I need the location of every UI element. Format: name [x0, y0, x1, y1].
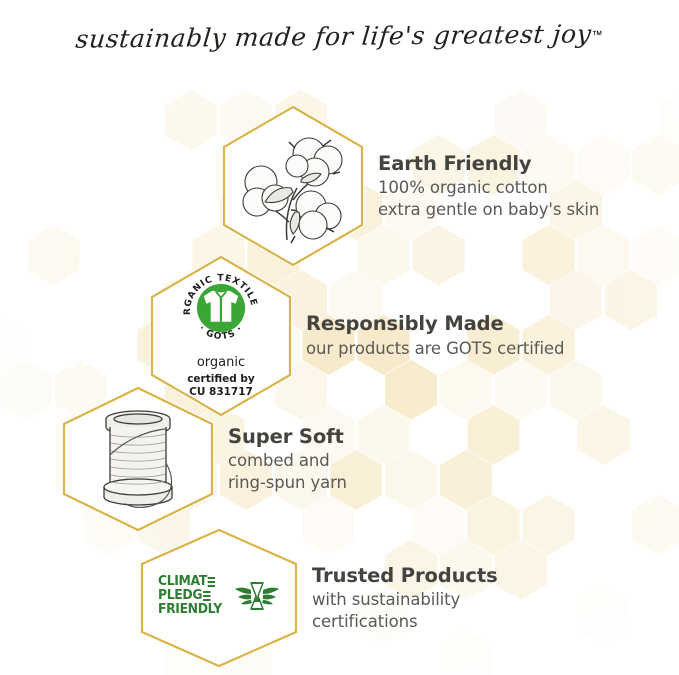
- feature-super-soft: Super Soft combed and ring-spun yarn: [62, 386, 347, 532]
- gots-organic-label: organic: [197, 355, 245, 370]
- hex-card-spool: [62, 386, 214, 532]
- gots-certified-by-label: certified by: [187, 373, 255, 386]
- trademark-symbol: ™: [592, 30, 603, 42]
- feature-title: Trusted Products: [312, 564, 498, 588]
- cpf-line-3: FRIENDLY: [158, 603, 222, 617]
- feature-text-trusted-products: Trusted Products with sustainability cer…: [312, 564, 498, 633]
- gots-badge: GLOBAL ORGANIC TEXTILE STANDARD · GOTS ·…: [178, 265, 264, 398]
- cpf-line-3-text: FRIENDLY: [158, 603, 222, 617]
- headline-text: sustainably made for life's greatest joy: [75, 19, 594, 53]
- thread-spool-icon: [86, 403, 190, 515]
- cotton-plant-icon: [235, 124, 351, 248]
- feature-description: with sustainability certifications: [312, 589, 498, 633]
- climate-pledge-wordmark: CLIMAT PLEDG FRIENDLY: [158, 575, 227, 616]
- hex-card-climate-pledge: CLIMAT PLEDG FRIENDLY: [140, 528, 298, 668]
- feature-description: 100% organic cotton extra gentle on baby…: [378, 177, 599, 221]
- sustainability-infographic: sustainably made for life's greatest joy…: [0, 0, 679, 675]
- feature-title: Super Soft: [228, 425, 347, 449]
- feature-text-earth-friendly: Earth Friendly 100% organic cotton extra…: [378, 152, 599, 221]
- feature-trusted-products: CLIMAT PLEDG FRIENDLY: [140, 528, 498, 668]
- cpf-bars-icon: [203, 591, 210, 601]
- feature-text-responsibly-made: Responsibly Made our products are GOTS c…: [306, 312, 564, 359]
- feature-title: Earth Friendly: [378, 152, 599, 176]
- gots-logo-icon: GLOBAL ORGANIC TEXTILE STANDARD · GOTS ·: [178, 265, 264, 351]
- page-headline: sustainably made for life's greatest joy…: [0, 22, 679, 51]
- feature-description: combed and ring-spun yarn: [228, 450, 347, 494]
- feature-earth-friendly: Earth Friendly 100% organic cotton extra…: [222, 105, 599, 267]
- hex-card-cotton: [222, 105, 364, 267]
- winged-hourglass-icon: [234, 576, 280, 616]
- cpf-bars-icon: [208, 577, 215, 587]
- feature-text-super-soft: Super Soft combed and ring-spun yarn: [228, 425, 347, 494]
- climate-pledge-friendly-badge: CLIMAT PLEDG FRIENDLY: [158, 575, 280, 616]
- feature-description: our products are GOTS certified: [306, 338, 564, 360]
- feature-title: Responsibly Made: [306, 312, 564, 336]
